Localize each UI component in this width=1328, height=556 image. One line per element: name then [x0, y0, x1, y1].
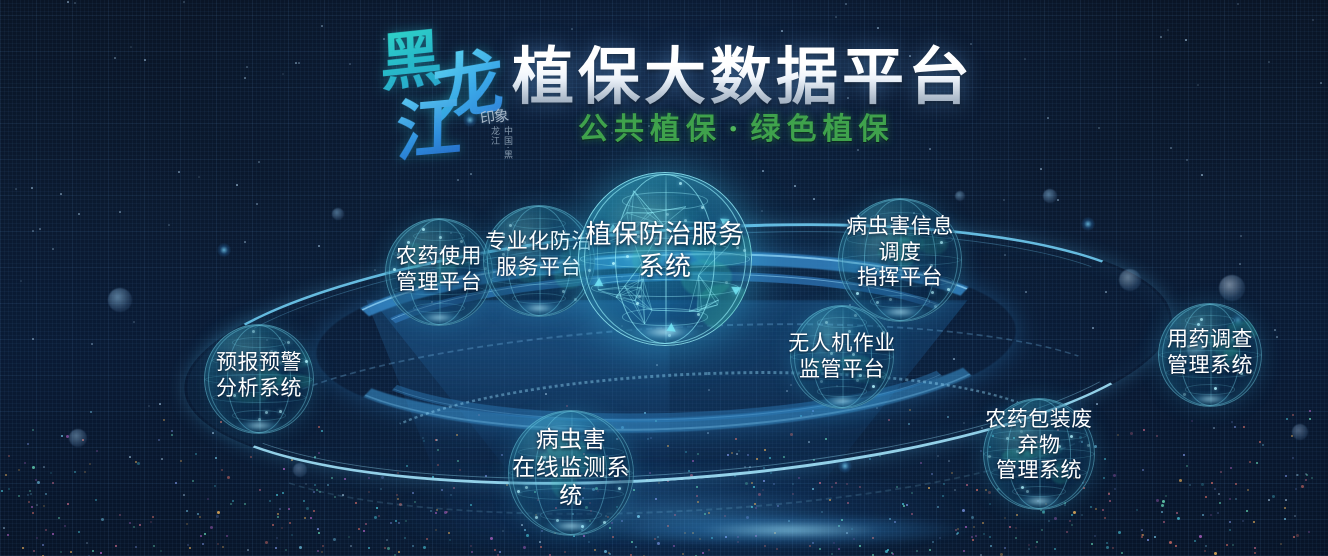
star-dot [786, 390, 788, 392]
particle-dot [1284, 507, 1286, 509]
particle-dot [812, 542, 814, 544]
particle-dot [18, 469, 20, 471]
particle-dot [1091, 543, 1093, 545]
particle-dot [783, 456, 785, 458]
particle-dot [879, 455, 881, 457]
particle-dot [696, 486, 698, 488]
particle-dot [764, 449, 766, 451]
bokeh-orb [293, 463, 307, 477]
star-dot [1294, 515, 1296, 517]
particle-dot [283, 468, 285, 470]
star-dot [1296, 474, 1298, 476]
bokeh-orb [108, 288, 132, 312]
particle-dot [755, 535, 757, 537]
globe-specular [821, 396, 863, 406]
particle-dot [175, 482, 177, 484]
particle-dot [321, 430, 323, 432]
particle-dot [1069, 520, 1071, 522]
star-dot [963, 422, 965, 424]
particle-dot [745, 482, 748, 485]
particle-dot [28, 501, 30, 503]
bokeh-orb [1119, 269, 1141, 291]
particle-dot [1071, 514, 1073, 516]
particle-dot [1308, 531, 1310, 533]
particle-dot [1035, 546, 1037, 548]
particle-dot [655, 420, 657, 422]
particle-dot [1154, 536, 1156, 538]
particle-dot [825, 438, 827, 440]
particle-dot [1, 490, 3, 492]
particle-dot [1095, 508, 1097, 510]
node-pest-online-monitoring-system[interactable]: 病虫害 在线监测系 统 [508, 410, 634, 536]
particle-dot [896, 486, 898, 488]
logo-seal-caption: 中国·黑龙江 [488, 126, 514, 166]
particle-dot [36, 537, 38, 539]
particle-dot [61, 435, 63, 437]
globe-specular [517, 302, 562, 313]
star-dot [436, 439, 438, 441]
particle-dot [756, 458, 758, 460]
particle-dot [731, 452, 733, 454]
globe-marker-triangle [731, 287, 741, 296]
particle-dot [1201, 483, 1204, 486]
star-dot [1276, 336, 1278, 338]
particle-dot [609, 553, 611, 555]
particle-dot [708, 512, 710, 514]
particle-dot [244, 503, 246, 505]
particle-dot [754, 503, 756, 505]
star-dot [168, 224, 170, 226]
particle-dot [682, 553, 684, 555]
subtitle-separator: · [722, 112, 750, 147]
particle-dot [365, 523, 367, 525]
star-dot [1004, 254, 1006, 256]
particle-dot [214, 485, 216, 487]
particle-dot [310, 517, 312, 519]
particle-dot [1141, 534, 1143, 536]
particle-dot [838, 525, 840, 527]
star-dot [1305, 473, 1307, 475]
particle-dot [911, 492, 913, 494]
particle-dot [1292, 414, 1294, 416]
particle-dot [656, 479, 658, 481]
particle-dot [435, 512, 437, 514]
particle-dot [1295, 488, 1297, 490]
particle-dot [1219, 502, 1221, 504]
particle-dot [859, 545, 861, 547]
globe-specular [417, 312, 460, 323]
particle-dot [494, 549, 496, 551]
page-title: 植保大数据平台 [512, 26, 974, 116]
particle-dot [358, 528, 360, 530]
particle-dot [699, 538, 701, 540]
particle-dot [355, 502, 357, 504]
particle-dot [227, 476, 230, 479]
particle-dot [800, 415, 802, 417]
star-dot [808, 441, 810, 443]
particle-dot [313, 491, 315, 493]
particle-dot [755, 507, 757, 509]
particle-dot [448, 532, 450, 534]
particle-dot [232, 500, 234, 502]
particle-dot [95, 499, 97, 501]
particle-dot [119, 514, 121, 516]
star-dot [350, 545, 352, 547]
particle-dot [887, 549, 889, 551]
particle-dot [1311, 477, 1313, 479]
star-dot [937, 455, 939, 457]
globe-network-node [265, 411, 268, 414]
star-dot [86, 542, 88, 544]
particle-dot [1234, 426, 1236, 428]
particle-dot [631, 541, 633, 543]
node-pest-info-dispatch-command-platform[interactable]: 病虫害信息 调度 指挥平台 [838, 198, 962, 322]
particle-dot [368, 547, 370, 549]
particle-dot [540, 546, 542, 548]
star-dot [244, 241, 246, 243]
particle-dot [821, 511, 823, 513]
particle-dot [962, 509, 965, 512]
particle-dot [265, 541, 268, 544]
particle-dot [158, 439, 160, 441]
particle-dot [378, 515, 380, 517]
star-dot [198, 176, 200, 178]
star-dot [31, 187, 33, 189]
particle-dot [317, 528, 319, 530]
star-dot [1285, 499, 1287, 501]
particle-dot [74, 471, 76, 473]
particle-dot [943, 483, 945, 485]
particle-dot [763, 467, 765, 469]
particle-dot [655, 498, 657, 500]
particle-dot [160, 550, 162, 552]
particle-dot [269, 500, 271, 502]
particle-dot [929, 549, 931, 551]
particle-dot [892, 553, 894, 555]
particle-dot [1189, 484, 1191, 486]
particle-dot [635, 546, 637, 548]
particle-dot [1297, 474, 1299, 476]
particle-dot [1130, 432, 1133, 435]
particle-dot [1179, 479, 1182, 482]
particle-dot [1226, 544, 1228, 546]
particle-dot [769, 457, 771, 459]
particle-dot [903, 505, 905, 507]
particle-dot [1235, 498, 1237, 500]
particle-dot [727, 454, 729, 456]
particle-dot [189, 547, 191, 549]
logo-seal: 印象 中国·黑龙江 [474, 104, 516, 166]
particle-dot [1108, 492, 1110, 494]
particle-dot [737, 536, 739, 538]
particle-dot [285, 549, 287, 551]
particle-dot [202, 543, 204, 545]
particle-dot [889, 518, 891, 520]
subtitle-right: 绿色植保 [750, 112, 894, 147]
particle-dot [847, 502, 849, 504]
particle-dot [135, 461, 137, 463]
star-dot [43, 466, 45, 468]
particle-dot [1102, 509, 1104, 511]
particle-dot [376, 507, 378, 509]
particle-dot [457, 460, 459, 462]
particle-dot [902, 503, 904, 505]
star-dot [91, 343, 93, 345]
globe-network-node [1021, 486, 1024, 489]
particle-dot [833, 542, 835, 544]
particle-dot [115, 545, 117, 547]
particle-dot [853, 538, 855, 540]
particle-dot [279, 508, 281, 510]
particle-dot [22, 547, 24, 549]
particle-dot [1114, 488, 1116, 490]
particle-dot [322, 545, 324, 547]
particle-dot [437, 464, 439, 466]
star-dot [980, 554, 982, 556]
particle-dot [70, 551, 72, 553]
particle-dot [186, 523, 188, 525]
particle-dot [314, 484, 316, 486]
star-dot [236, 184, 238, 186]
star-dot [708, 389, 710, 391]
star-dot [813, 198, 815, 200]
star-dot [744, 466, 746, 468]
particle-dot [317, 550, 319, 552]
node-label: 用药调查 管理系统 [1144, 327, 1276, 378]
particle-dot [33, 550, 35, 552]
particle-dot [708, 549, 710, 551]
particle-dot [453, 487, 455, 489]
globe-network-node [1197, 323, 1200, 326]
star-dot [1096, 403, 1098, 405]
particle-dot [1293, 536, 1295, 538]
particle-dot [770, 472, 772, 474]
particle-dot [67, 503, 69, 505]
particle-dot [368, 477, 370, 479]
particle-dot [1073, 511, 1076, 514]
particle-dot [523, 546, 526, 549]
particle-dot [217, 511, 220, 514]
star-dot [656, 364, 658, 366]
particle-dot [405, 520, 407, 522]
particle-dot [931, 473, 933, 475]
particle-dot [187, 544, 189, 546]
particle-dot [1217, 512, 1219, 514]
particle-dot [277, 516, 279, 518]
particle-dot [684, 532, 686, 534]
star-dot [32, 230, 34, 232]
star-dot [386, 539, 388, 541]
particle-dot [644, 412, 646, 414]
bokeh-orb [1292, 424, 1308, 440]
node-plant-protection-control-service-system[interactable]: 植保防治服务 系统 [578, 172, 752, 346]
star-dot [32, 338, 34, 340]
particle-dot [957, 528, 959, 530]
particle-dot [688, 470, 690, 472]
node-forecast-warning-analysis-system[interactable]: 预报预警 分析系统 [204, 324, 314, 434]
globe-network-node [1183, 393, 1186, 396]
particle-dot [1309, 418, 1311, 420]
particle-dot [426, 538, 428, 540]
particle-dot [259, 489, 261, 491]
globe-network-node [889, 298, 892, 301]
particle-dot [1042, 510, 1045, 513]
particle-dot [1247, 489, 1249, 491]
particle-dot [1191, 420, 1193, 422]
particle-dot [737, 541, 739, 543]
particle-dot [387, 547, 390, 550]
particle-dot [1249, 461, 1251, 463]
particle-dot [1175, 545, 1177, 547]
particle-dot [932, 541, 934, 543]
particle-dot [316, 489, 318, 491]
logo-char-jiang: 江 [396, 93, 463, 165]
particle-dot [916, 550, 918, 552]
particle-dot [983, 533, 985, 535]
particle-dot [711, 537, 713, 539]
particle-dot [435, 439, 437, 441]
particle-dot [1113, 474, 1116, 477]
node-medication-survey-management-system[interactable]: 用药调查 管理系统 [1158, 303, 1262, 407]
particle-dot [5, 474, 7, 476]
particle-dot [275, 547, 277, 549]
particle-dot [313, 510, 315, 512]
particle-dot [318, 426, 320, 428]
particle-dot [735, 438, 737, 440]
particle-dot [1169, 541, 1172, 544]
globe-specular [1017, 495, 1062, 506]
particle-dot [1296, 534, 1299, 537]
node-label: 农药包装废 弃物 管理系统 [969, 407, 1109, 484]
particle-dot [333, 538, 336, 541]
star-dot [1201, 174, 1203, 176]
particle-dot [872, 537, 874, 539]
star-dot [736, 453, 738, 455]
particle-dot [966, 484, 968, 486]
particle-dot [773, 483, 775, 485]
particle-dot [776, 548, 778, 550]
particle-dot [459, 469, 461, 471]
particle-dot [89, 463, 91, 465]
particle-dot [751, 506, 753, 508]
particle-dot [1280, 543, 1282, 545]
star-dot [539, 541, 541, 543]
particle-dot [748, 469, 750, 471]
particle-dot [888, 419, 890, 421]
particle-dot [30, 493, 32, 495]
particle-dot [1004, 547, 1006, 549]
particle-dot [199, 516, 201, 518]
particle-dot [1309, 410, 1311, 412]
particle-dot [133, 526, 135, 528]
particle-dot [207, 498, 209, 500]
star-dot [39, 228, 41, 230]
particle-dot [973, 526, 975, 528]
particle-dot [331, 477, 333, 479]
particle-dot [1121, 552, 1123, 554]
particle-dot [841, 519, 843, 521]
particle-dot [31, 506, 33, 508]
particle-dot [774, 532, 776, 534]
particle-dot [412, 492, 414, 494]
particle-dot [667, 525, 669, 527]
star-dot [953, 358, 955, 360]
node-uav-operation-supervision-platform[interactable]: 无人机作业 监管平台 [790, 305, 894, 409]
particle-dot [7, 534, 9, 536]
floor-glow [300, 440, 1060, 556]
particle-dot [478, 414, 480, 416]
particle-dot [724, 515, 726, 517]
star-dot [3, 527, 5, 529]
particle-dot [1141, 529, 1143, 531]
star-dot [1239, 263, 1241, 265]
particle-dot [1106, 546, 1109, 549]
particle-dot [58, 517, 60, 519]
particle-dot [911, 513, 913, 515]
bokeh-orb [1219, 275, 1245, 301]
particle-dot [380, 488, 382, 490]
particle-dot [1054, 517, 1057, 520]
orbit-ring-dotted [358, 360, 1063, 534]
star-dot [148, 405, 150, 407]
star-dot [1268, 499, 1270, 501]
bokeh-orb [1043, 189, 1057, 203]
particle-dot [395, 520, 397, 522]
particle-dot [1041, 529, 1043, 531]
particle-dot [32, 429, 34, 431]
node-label: 病虫害信息 调度 指挥平台 [825, 214, 975, 291]
particle-dot [1117, 434, 1119, 436]
particle-dot [8, 488, 10, 490]
star-dot [305, 483, 307, 485]
star-dot [1105, 291, 1107, 293]
particle-dot [1262, 444, 1264, 446]
particle-dot [276, 494, 278, 496]
particle-dot [1194, 540, 1196, 542]
particle-dot [281, 527, 283, 529]
particle-dot [499, 551, 501, 553]
star-dot [1213, 427, 1215, 429]
particle-dot [1214, 488, 1216, 490]
particle-dot [397, 472, 399, 474]
node-label: 植保防治服务 系统 [565, 220, 765, 283]
particle-dot [1246, 510, 1248, 512]
particle-dot [1071, 524, 1073, 526]
particle-dot [1081, 514, 1083, 516]
particle-dot [222, 546, 224, 548]
particle-dot [318, 452, 320, 454]
particle-dot [692, 532, 694, 534]
star-dot [762, 170, 764, 172]
particle-dot [470, 545, 472, 547]
particle-dot [1143, 429, 1145, 431]
particle-dot [321, 551, 323, 553]
star-dot [707, 432, 709, 434]
particle-dot [449, 539, 451, 541]
particle-dot [1306, 474, 1308, 476]
header: 黑 龙 江 印象 中国·黑龙江 植保大数据平台 公共植保·绿色植保 [0, 0, 1328, 168]
particle-dot [869, 458, 871, 460]
particle-dot [221, 469, 223, 471]
particle-dot [696, 495, 698, 497]
globe-specular [1189, 394, 1231, 404]
particle-dot [1094, 535, 1096, 537]
particle-dot [37, 481, 40, 484]
particle-dot [763, 480, 765, 482]
particle-dot [762, 489, 764, 491]
particle-dot [390, 522, 392, 524]
node-pesticide-packaging-waste-management-system[interactable]: 农药包装废 弃物 管理系统 [983, 398, 1095, 510]
